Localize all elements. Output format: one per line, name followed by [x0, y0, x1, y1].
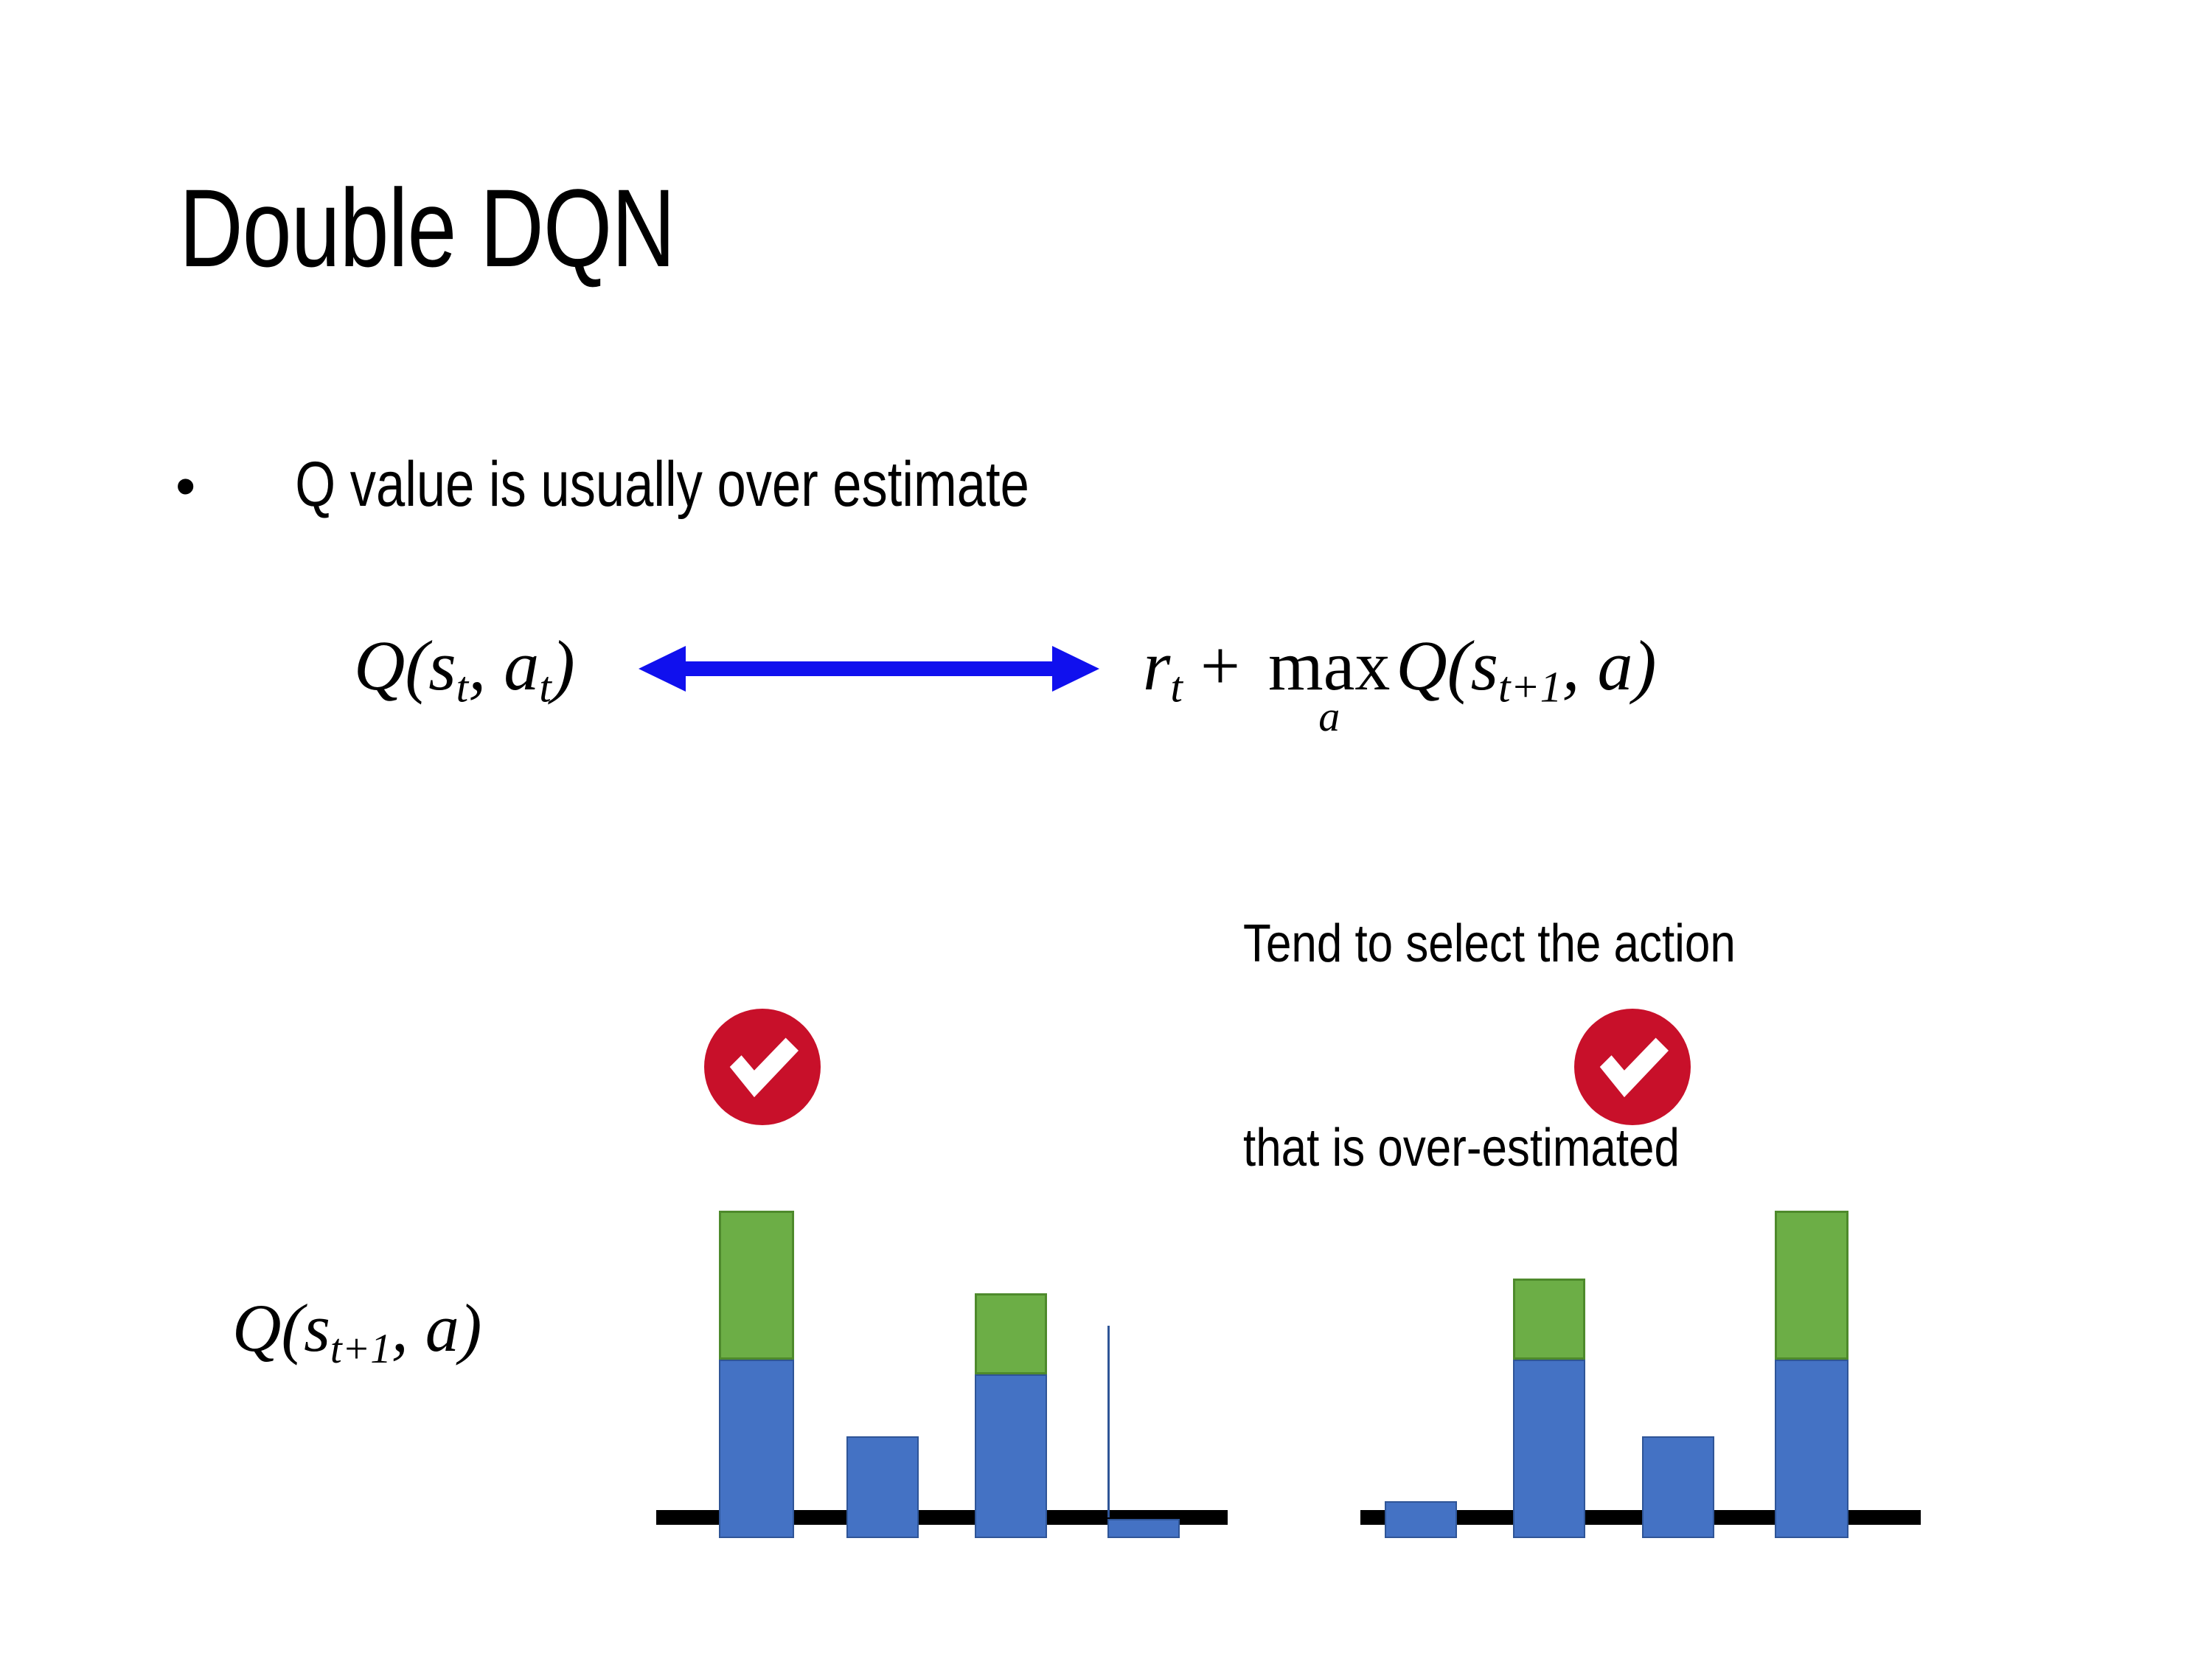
eq-right-close: ): [1632, 626, 1656, 705]
bar-left-2-truevalue: [846, 1436, 919, 1538]
eq-right-a: a: [1597, 626, 1632, 705]
bar-chart-left: [649, 944, 1239, 1548]
max-subscript: a: [1318, 695, 1340, 738]
bar-right-1[interactable]: [1385, 1501, 1457, 1538]
bar-left-4-truevalue: [1107, 1519, 1180, 1538]
bar-right-4-truevalue: [1775, 1360, 1848, 1538]
bar-right-3[interactable]: [1642, 1436, 1714, 1538]
bullet-marker: •: [175, 457, 195, 515]
bar-right-1-truevalue: [1385, 1501, 1457, 1538]
max-operator: max a: [1268, 633, 1390, 738]
eq-left-s-sub: t: [456, 663, 469, 712]
bar-right-2[interactable]: [1513, 1279, 1585, 1538]
qlabel-comma: ,: [392, 1290, 425, 1366]
qlabel-close: ): [459, 1290, 482, 1366]
qlabel-s: s: [304, 1290, 330, 1366]
qlabel-q: Q: [232, 1290, 281, 1366]
bar-left-4[interactable]: [1107, 1519, 1180, 1538]
eq-right-r: r: [1143, 626, 1170, 705]
bar-left-1[interactable]: [719, 1211, 794, 1538]
qlabel-a: a: [425, 1290, 459, 1366]
equation-left: Q(st, at): [354, 630, 575, 709]
bar-right-2-overestimate: [1513, 1279, 1585, 1360]
max-label: max: [1268, 633, 1390, 698]
eq-left-q: Q: [354, 626, 405, 705]
bar-left-1-truevalue: [719, 1360, 794, 1538]
zero-bar-hairline: [1107, 1326, 1110, 1517]
check-icon: [1574, 1009, 1691, 1125]
slide-canvas: Double DQN • Q value is usually over est…: [0, 0, 2212, 1659]
bar-left-2[interactable]: [846, 1436, 919, 1538]
eq-left-s: s: [428, 626, 456, 705]
eq-right-plus: +: [1183, 626, 1258, 705]
eq-right-s-sub: t+1: [1498, 663, 1562, 712]
page-title: Double DQN: [179, 168, 675, 288]
bar-right-2-truevalue: [1513, 1360, 1585, 1538]
eq-left-comma: ,: [468, 626, 504, 705]
bar-right-3-truevalue: [1642, 1436, 1714, 1538]
bullet-text: Q value is usually over estimate: [296, 448, 1030, 521]
qlabel-open: (: [281, 1290, 304, 1366]
eq-right-r-sub: t: [1170, 663, 1183, 712]
bar-right-4-overestimate: [1775, 1211, 1848, 1360]
double-arrow-icon: [639, 646, 1099, 692]
bullet-row: • Q value is usually over estimate: [175, 448, 1110, 521]
eq-right-s: s: [1471, 626, 1498, 705]
eq-right-q: Q: [1396, 626, 1447, 705]
eq-left-a: a: [504, 626, 539, 705]
eq-left-a-sub: t: [539, 663, 552, 712]
bar-left-3-truevalue: [975, 1374, 1047, 1538]
bar-chart-right: [1360, 944, 1950, 1548]
eq-left-close: ): [552, 626, 575, 705]
equation-right: rt + max a Q(st+1, a): [1143, 630, 1656, 738]
eq-right-open: (: [1447, 626, 1471, 705]
eq-right-comma: ,: [1562, 626, 1597, 705]
check-icon: [704, 1009, 821, 1125]
qlabel-s-sub: t+1: [330, 1326, 392, 1372]
bar-left-3[interactable]: [975, 1293, 1047, 1538]
chart-y-axis-label: Q(st+1, a): [232, 1294, 481, 1370]
bar-right-4[interactable]: [1775, 1211, 1848, 1538]
eq-left-open: (: [405, 626, 428, 705]
bar-left-1-overestimate: [719, 1211, 794, 1360]
bar-left-3-overestimate: [975, 1293, 1047, 1374]
